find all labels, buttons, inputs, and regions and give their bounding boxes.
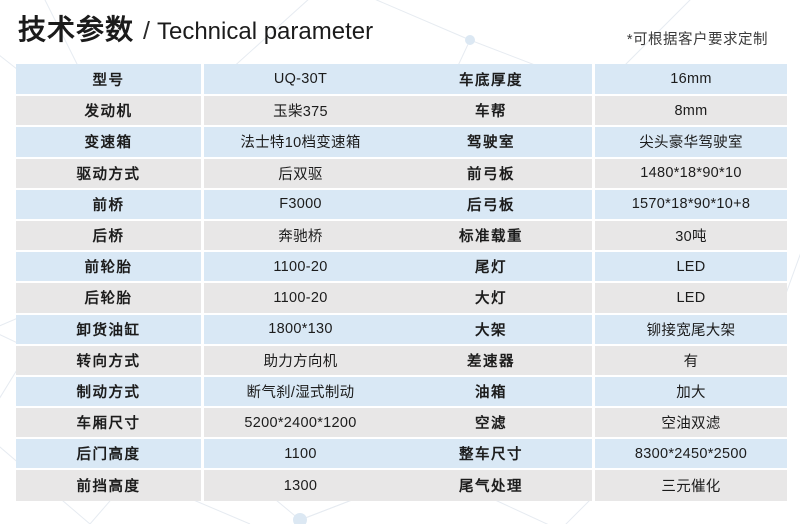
table-row: 前轮胎1100-20 <box>16 251 397 282</box>
spec-value: 有 <box>594 345 788 376</box>
spec-value: 8300*2450*2500 <box>594 438 788 469</box>
spec-label: 前弓板 <box>390 158 594 189</box>
table-row: 大灯LED <box>390 282 787 313</box>
spec-value: 1300 <box>203 469 398 500</box>
spec-value: 30吨 <box>594 220 788 251</box>
spec-table-left-body: 型号UQ-30T发动机玉柴375变速箱法士特10档变速箱驱动方式后双驱前桥F30… <box>16 64 397 501</box>
spec-label: 空滤 <box>390 407 594 438</box>
spec-value: 1480*18*90*10 <box>594 158 788 189</box>
table-row: 卸货油缸1800*130 <box>16 314 397 345</box>
spec-label: 整车尺寸 <box>390 438 594 469</box>
spec-value: 法士特10档变速箱 <box>203 126 398 157</box>
spec-label: 后门高度 <box>16 438 203 469</box>
spec-value: 铆接宽尾大架 <box>594 314 788 345</box>
page-title-english: Technical parameter <box>157 20 373 44</box>
spec-value: UQ-30T <box>203 64 398 95</box>
spec-value: 三元催化 <box>594 469 788 500</box>
table-row: 尾气处理三元催化 <box>390 469 787 500</box>
spec-value: 1800*130 <box>203 314 398 345</box>
table-row: 差速器有 <box>390 345 787 376</box>
spec-label: 尾气处理 <box>390 469 594 500</box>
spec-table-right-body: 车底厚度16mm车帮8mm驾驶室尖头豪华驾驶室前弓板1480*18*90*10后… <box>390 64 787 501</box>
spec-value: 1100-20 <box>203 282 398 313</box>
spec-value: F3000 <box>203 189 398 220</box>
spec-label: 驱动方式 <box>16 158 203 189</box>
spec-value: LED <box>594 251 788 282</box>
spec-value: 断气刹/湿式制动 <box>203 376 398 407</box>
title-separator: / <box>143 19 150 44</box>
spec-table-right: 车底厚度16mm车帮8mm驾驶室尖头豪华驾驶室前弓板1480*18*90*10后… <box>390 64 787 501</box>
spec-value: 加大 <box>594 376 788 407</box>
table-row: 后门高度1100 <box>16 438 397 469</box>
spec-label: 前轮胎 <box>16 251 203 282</box>
spec-value: 尖头豪华驾驶室 <box>594 126 788 157</box>
spec-value: 后双驱 <box>203 158 398 189</box>
spec-value: 助力方向机 <box>203 345 398 376</box>
spec-label: 标准载重 <box>390 220 594 251</box>
spec-value: 1570*18*90*10+8 <box>594 189 788 220</box>
spec-table-left: 型号UQ-30T发动机玉柴375变速箱法士特10档变速箱驱动方式后双驱前桥F30… <box>16 64 397 501</box>
table-row: 整车尺寸8300*2450*2500 <box>390 438 787 469</box>
table-row: 驾驶室尖头豪华驾驶室 <box>390 126 787 157</box>
table-row: 车底厚度16mm <box>390 64 787 95</box>
spec-value: 8mm <box>594 95 788 126</box>
spec-label: 变速箱 <box>16 126 203 157</box>
spec-label: 车底厚度 <box>390 64 594 95</box>
spec-label: 前桥 <box>16 189 203 220</box>
page-title: 技术参数 / Technical parameter <box>18 16 373 44</box>
table-row: 变速箱法士特10档变速箱 <box>16 126 397 157</box>
table-row: 车帮8mm <box>390 95 787 126</box>
spec-label: 转向方式 <box>16 345 203 376</box>
table-row: 标准载重30吨 <box>390 220 787 251</box>
spec-value: 16mm <box>594 64 788 95</box>
table-row: 制动方式断气刹/湿式制动 <box>16 376 397 407</box>
table-row: 后轮胎1100-20 <box>16 282 397 313</box>
page-header: 技术参数 / Technical parameter *可根据客户要求定制 <box>0 0 800 62</box>
spec-label: 制动方式 <box>16 376 203 407</box>
table-row: 后桥奔驰桥 <box>16 220 397 251</box>
customization-note: *可根据客户要求定制 <box>627 28 768 49</box>
spec-label: 卸货油缸 <box>16 314 203 345</box>
table-row: 空滤空油双滤 <box>390 407 787 438</box>
page-title-chinese: 技术参数 <box>18 16 134 44</box>
spec-label: 发动机 <box>16 95 203 126</box>
table-row: 大架铆接宽尾大架 <box>390 314 787 345</box>
spec-label: 差速器 <box>390 345 594 376</box>
table-row: 发动机玉柴375 <box>16 95 397 126</box>
spec-value: 玉柴375 <box>203 95 398 126</box>
spec-label: 后桥 <box>16 220 203 251</box>
spec-value: 1100-20 <box>203 251 398 282</box>
spec-label: 后弓板 <box>390 189 594 220</box>
spec-sheet-page: 技术参数 / Technical parameter *可根据客户要求定制 型号… <box>0 0 800 524</box>
spec-label: 尾灯 <box>390 251 594 282</box>
spec-value: 空油双滤 <box>594 407 788 438</box>
table-row: 油箱加大 <box>390 376 787 407</box>
spec-label: 后轮胎 <box>16 282 203 313</box>
spec-label: 型号 <box>16 64 203 95</box>
spec-label: 大灯 <box>390 282 594 313</box>
table-row: 型号UQ-30T <box>16 64 397 95</box>
spec-label: 油箱 <box>390 376 594 407</box>
spec-value: 奔驰桥 <box>203 220 398 251</box>
table-row: 驱动方式后双驱 <box>16 158 397 189</box>
table-row: 后弓板1570*18*90*10+8 <box>390 189 787 220</box>
table-row: 前挡高度1300 <box>16 469 397 500</box>
table-row: 前桥F3000 <box>16 189 397 220</box>
spec-label: 大架 <box>390 314 594 345</box>
spec-value: 5200*2400*1200 <box>203 407 398 438</box>
spec-label: 车帮 <box>390 95 594 126</box>
table-row: 转向方式助力方向机 <box>16 345 397 376</box>
table-row: 尾灯LED <box>390 251 787 282</box>
spec-label: 驾驶室 <box>390 126 594 157</box>
spec-value: 1100 <box>203 438 398 469</box>
table-row: 前弓板1480*18*90*10 <box>390 158 787 189</box>
spec-value: LED <box>594 282 788 313</box>
spec-label: 前挡高度 <box>16 469 203 500</box>
spec-label: 车厢尺寸 <box>16 407 203 438</box>
table-row: 车厢尺寸5200*2400*1200 <box>16 407 397 438</box>
